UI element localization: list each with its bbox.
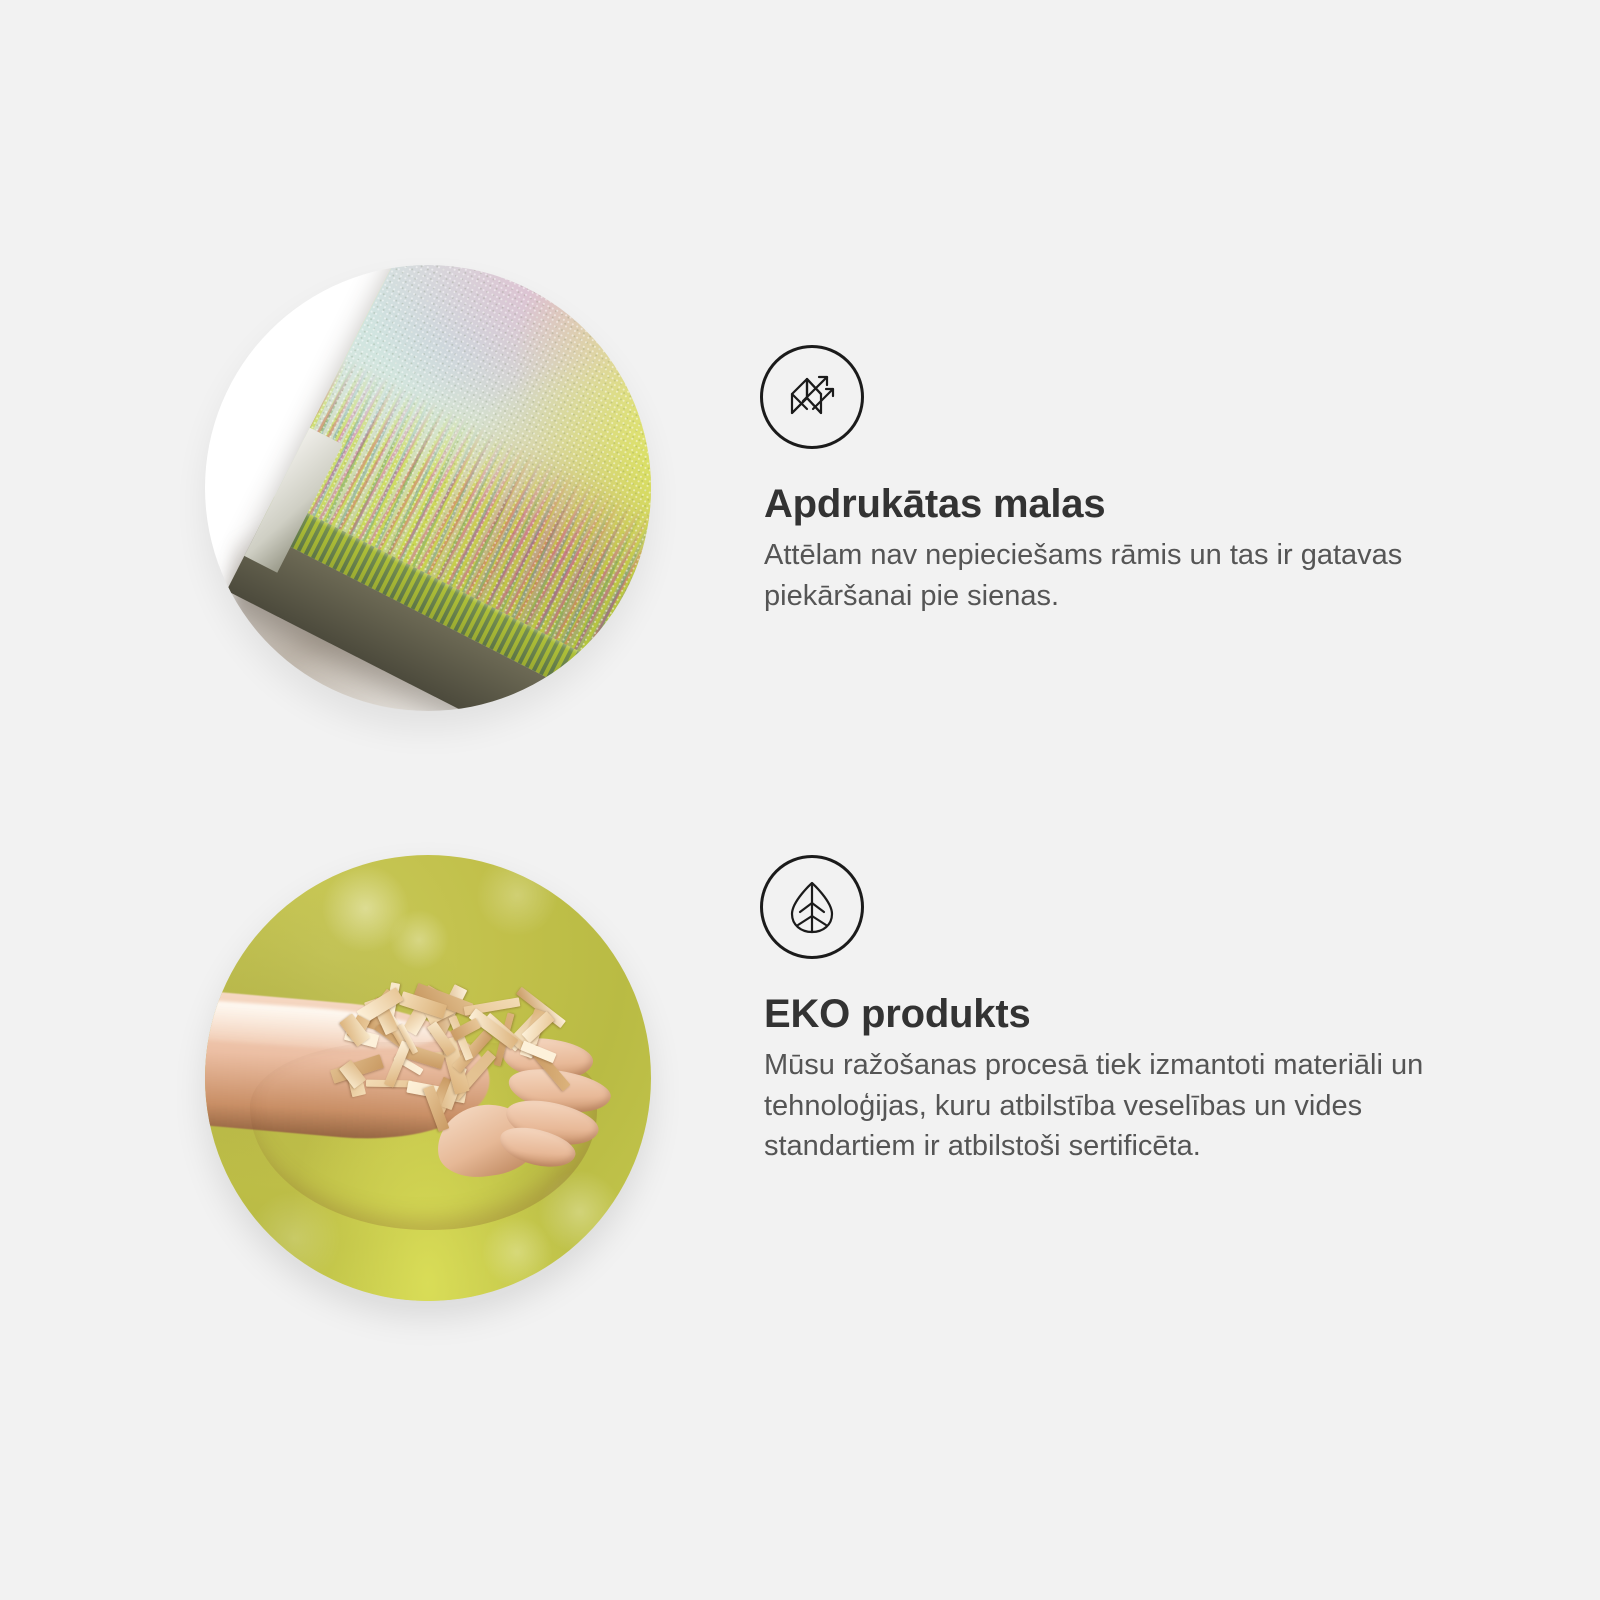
feature-description: Mūsu ražošanas procesā tiek izmantoti ma…: [764, 1045, 1474, 1167]
feature-title: Apdrukātas malas: [764, 482, 1600, 527]
feature-title: EKO produkts: [764, 992, 1600, 1037]
feature-eco-product: EKO produkts Mūsu ražošanas procesā tiek…: [0, 830, 1600, 1330]
wood-chip-pile: [321, 993, 562, 1136]
feature-media-printed-edges: [0, 240, 740, 740]
feature-description: Attēlam nav nepieciešams rāmis un tas ir…: [764, 535, 1474, 616]
feature-text-eco-product: EKO produkts Mūsu ražošanas procesā tiek…: [740, 830, 1600, 1167]
feature-text-printed-edges: Apdrukātas malas Attēlam nav nepieciešam…: [740, 240, 1600, 616]
canvas-corner-photo: [205, 265, 651, 711]
feature-media-eco-product: [0, 830, 740, 1330]
feature-page: Apdrukātas malas Attēlam nav nepieciešam…: [0, 0, 1600, 1600]
hand-with-wood-chips-photo: [205, 855, 651, 1301]
leaf-icon: [760, 855, 864, 959]
feature-printed-edges: Apdrukātas malas Attēlam nav nepieciešam…: [0, 240, 1600, 740]
canvas-wrapped-edges-icon: [760, 345, 864, 449]
